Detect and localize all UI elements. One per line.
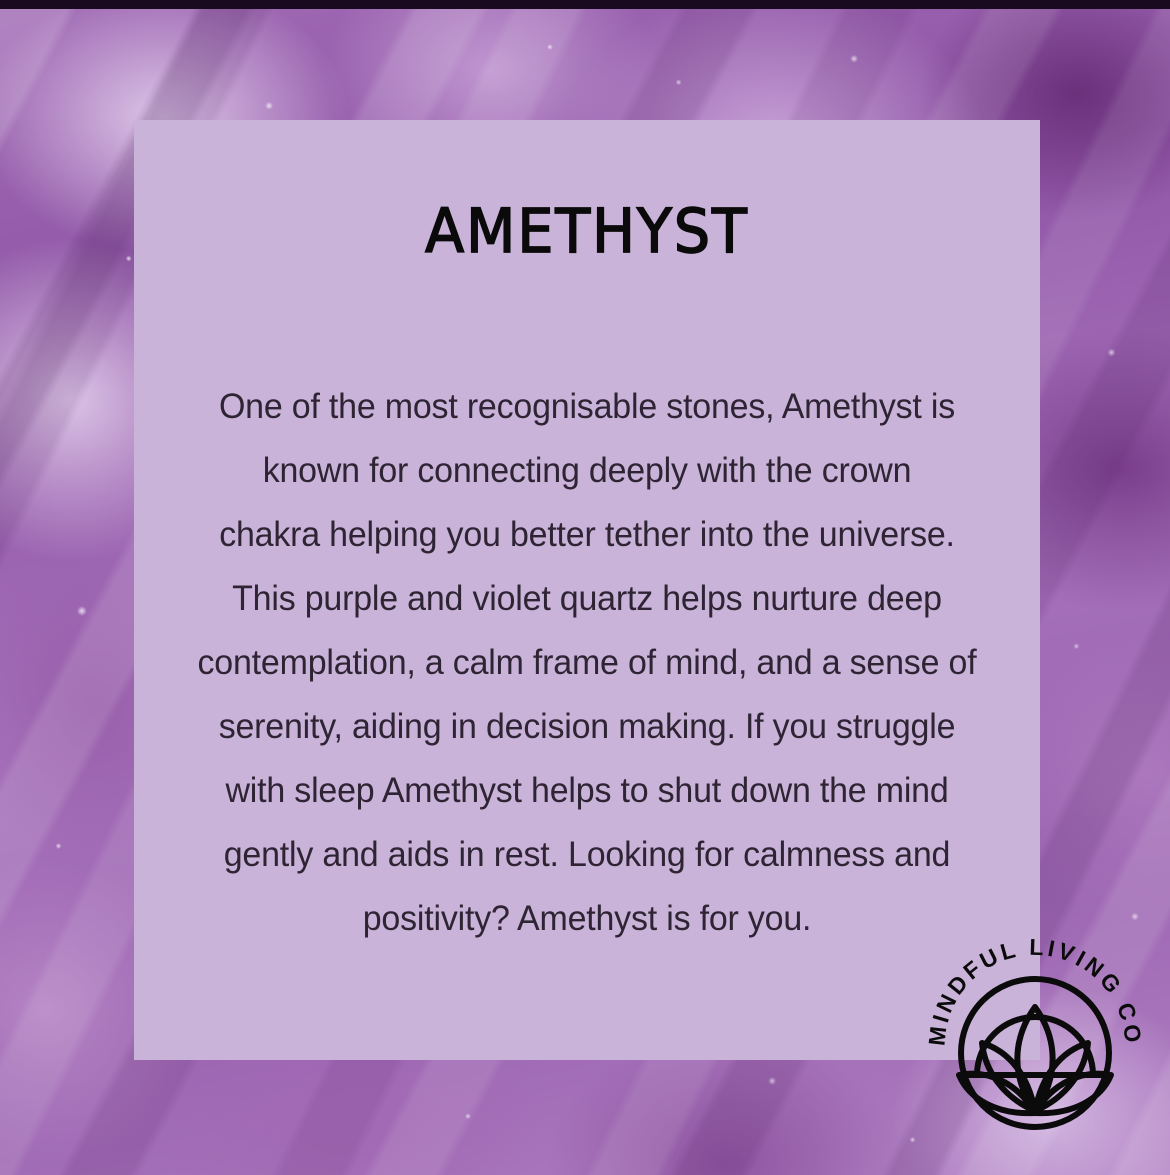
body-line: chakra helping you better tether into th… [173, 503, 1001, 567]
description-text: One of the most recognisable stones, Ame… [160, 375, 1014, 951]
screenshot-canvas: AMETHYST One of the most recognisable st… [0, 0, 1170, 1175]
body-line: gently and aids in rest. Looking for cal… [173, 823, 1001, 887]
body-line: with sleep Amethyst helps to shut down t… [173, 759, 1001, 823]
body-line: This purple and violet quartz helps nurt… [173, 567, 1001, 631]
page-title: AMETHYST [134, 198, 1040, 266]
body-line: contemplation, a calm frame of mind, and… [173, 631, 1001, 695]
background-top-dark-band [0, 0, 1170, 9]
brand-wordmark: MINDFUL LIVING CO [923, 934, 1146, 1047]
body-line: serenity, aiding in decision making. If … [173, 695, 1001, 759]
info-card: AMETHYST One of the most recognisable st… [134, 120, 1040, 1060]
body-line: One of the most recognisable stones, Ame… [173, 375, 1001, 439]
lotus-logo-icon: MINDFUL LIVING CO [925, 935, 1145, 1155]
body-line: positivity? Amethyst is for you. [173, 887, 1001, 951]
brand-logo: MINDFUL LIVING CO [925, 935, 1145, 1155]
brand-wordmark-path: MINDFUL LIVING CO [923, 934, 1146, 1047]
body-line: known for connecting deeply with the cro… [173, 439, 1001, 503]
